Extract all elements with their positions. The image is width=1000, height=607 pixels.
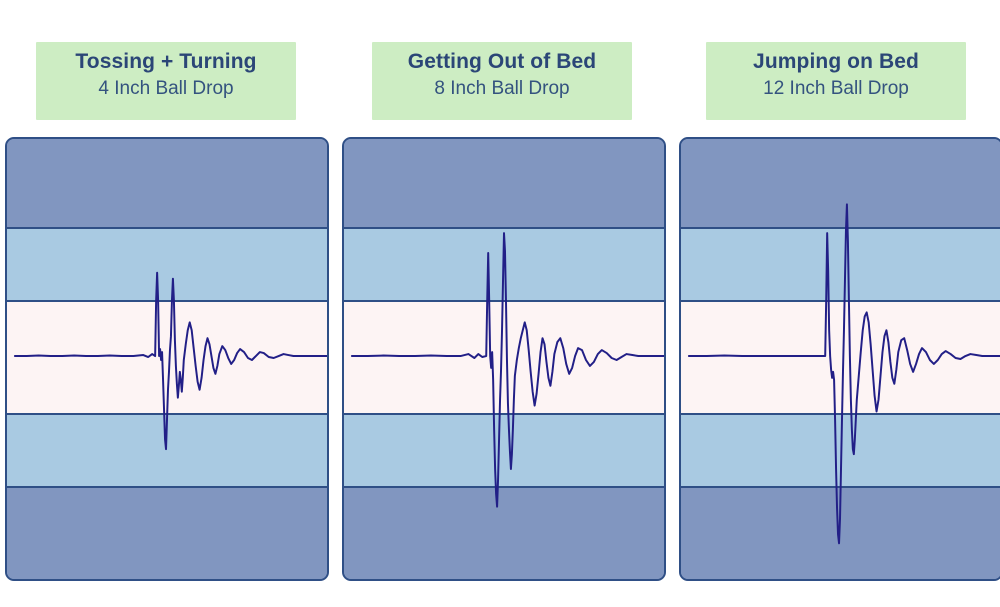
seismograph-panel-2 bbox=[342, 137, 666, 581]
waveform-trace-2 bbox=[344, 139, 664, 579]
waveform-trace-3 bbox=[681, 139, 1000, 579]
seismograph-panel-3 bbox=[679, 137, 1000, 581]
panel-header-title-2: Getting Out of Bed bbox=[372, 49, 632, 75]
seismograph-comparison-figure: Tossing + Turning 4 Inch Ball Drop Getti… bbox=[0, 0, 1000, 607]
panel-header-2: Getting Out of Bed 8 Inch Ball Drop bbox=[372, 42, 632, 120]
waveform-path bbox=[352, 233, 664, 507]
panel-header-subtitle-1: 4 Inch Ball Drop bbox=[36, 75, 296, 102]
waveform-path bbox=[689, 204, 1000, 543]
waveform-trace-1 bbox=[7, 139, 327, 579]
seismograph-panel-1 bbox=[5, 137, 329, 581]
waveform-path bbox=[15, 273, 327, 449]
panel-header-title-3: Jumping on Bed bbox=[706, 49, 966, 75]
panel-header-title-1: Tossing + Turning bbox=[36, 49, 296, 75]
panel-header-subtitle-3: 12 Inch Ball Drop bbox=[706, 75, 966, 102]
panel-header-3: Jumping on Bed 12 Inch Ball Drop bbox=[706, 42, 966, 120]
panel-header-subtitle-2: 8 Inch Ball Drop bbox=[372, 75, 632, 102]
panel-header-1: Tossing + Turning 4 Inch Ball Drop bbox=[36, 42, 296, 120]
